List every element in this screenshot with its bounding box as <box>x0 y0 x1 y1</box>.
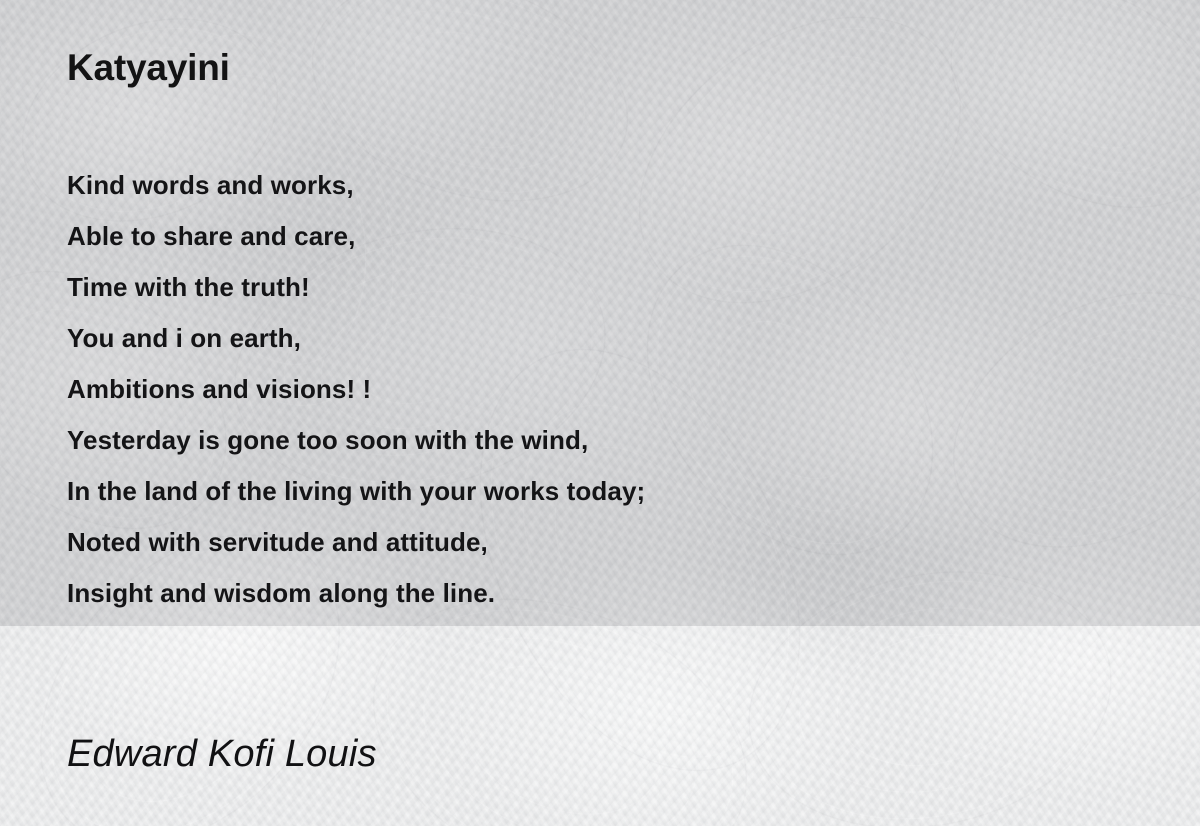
poem-image-card: Katyayini Kind words and works, Able to … <box>0 0 1200 826</box>
poem-line: Yesterday is gone too soon with the wind… <box>67 415 1127 466</box>
poem-line: You and i on earth, <box>67 313 1127 364</box>
poem-line: Kind words and works, <box>67 160 1127 211</box>
poem-line: Time with the truth! <box>67 262 1127 313</box>
poem-body: Kind words and works, Able to share and … <box>67 160 1127 619</box>
poem-line: Noted with servitude and attitude, <box>67 517 1127 568</box>
poem-line: Able to share and care, <box>67 211 1127 262</box>
poem-author-name: Edward Kofi Louis <box>67 733 377 776</box>
poem-content: Katyayini Kind words and works, Able to … <box>0 0 1200 826</box>
poem-title: Katyayini <box>67 48 230 89</box>
poem-line: In the land of the living with your work… <box>67 466 1127 517</box>
poem-line: Ambitions and visions! ! <box>67 364 1127 415</box>
poem-line: Insight and wisdom along the line. <box>67 568 1127 619</box>
